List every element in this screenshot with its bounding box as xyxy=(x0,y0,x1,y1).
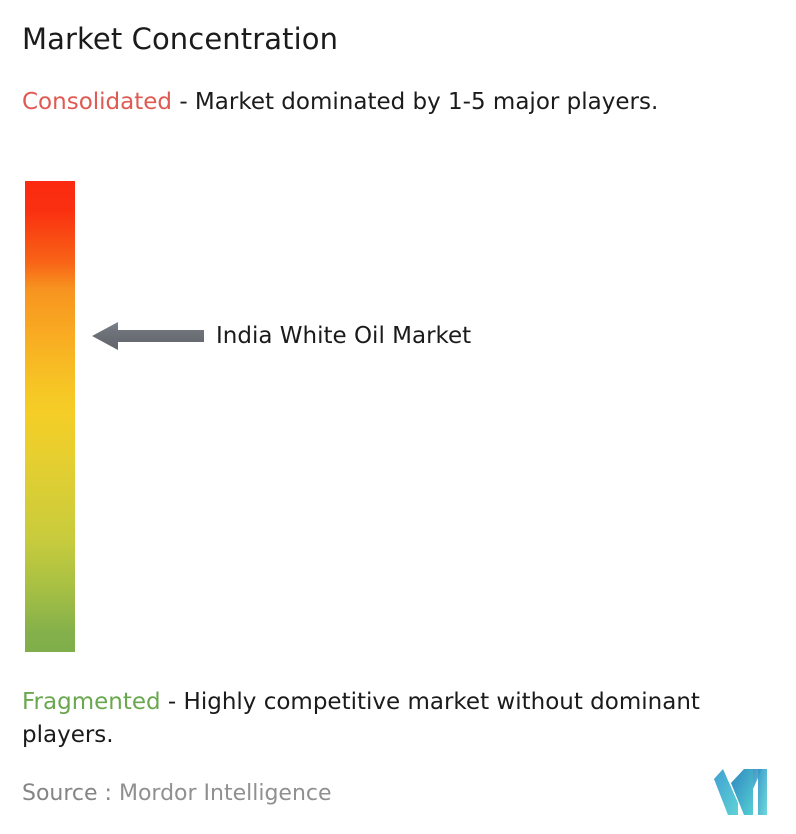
market-pointer-label: India White Oil Market xyxy=(216,321,471,351)
source-name: Mordor Intelligence xyxy=(119,781,332,806)
legend-consolidated-description: - Market dominated by 1-5 major players. xyxy=(172,89,658,115)
legend-consolidated: Consolidated - Market dominated by 1-5 m… xyxy=(22,86,772,119)
left-arrow-icon xyxy=(92,321,204,351)
legend-fragmented-keyword: Fragmented xyxy=(22,689,161,715)
market-pointer: India White Oil Market xyxy=(92,321,471,351)
mordor-intelligence-logo xyxy=(714,769,772,815)
source-label: Source : xyxy=(22,781,112,806)
legend-consolidated-keyword: Consolidated xyxy=(22,89,172,115)
market-concentration-chart: Market Concentration Consolidated - Mark… xyxy=(0,0,796,834)
legend-fragmented: Fragmented - Highly competitive market w… xyxy=(22,686,782,752)
concentration-scale-bar xyxy=(25,181,75,652)
source-attribution: Source : Mordor Intelligence xyxy=(22,779,332,809)
page-title: Market Concentration xyxy=(22,20,338,58)
scale-gradient xyxy=(25,181,75,652)
